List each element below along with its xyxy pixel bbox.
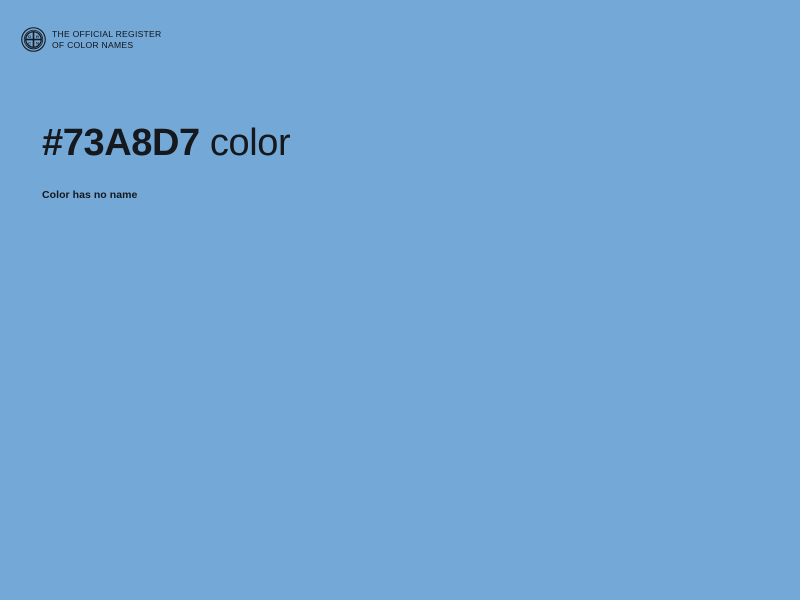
color-page: O R C N THE OFFICIAL REGISTER OF COLOR N… [0, 0, 800, 600]
color-name-status: Color has no name [42, 166, 762, 202]
main-content: #73A8D7 color Color has no name [42, 120, 762, 202]
svg-text:R: R [36, 34, 39, 39]
page-title: #73A8D7 color [42, 120, 762, 166]
brand-logo[interactable]: O R C N THE OFFICIAL REGISTER OF COLOR N… [21, 27, 162, 52]
page-title-hex: #73A8D7 [42, 122, 200, 164]
brand-line-2: OF COLOR NAMES [52, 40, 162, 51]
register-seal-icon: O R C N [21, 27, 46, 52]
svg-text:O: O [28, 34, 31, 39]
page-title-suffix: color [200, 122, 291, 164]
svg-text:C: C [28, 41, 31, 46]
brand-line-1: THE OFFICIAL REGISTER [52, 29, 162, 40]
brand-wordmark: THE OFFICIAL REGISTER OF COLOR NAMES [52, 29, 162, 50]
svg-text:N: N [36, 41, 39, 46]
